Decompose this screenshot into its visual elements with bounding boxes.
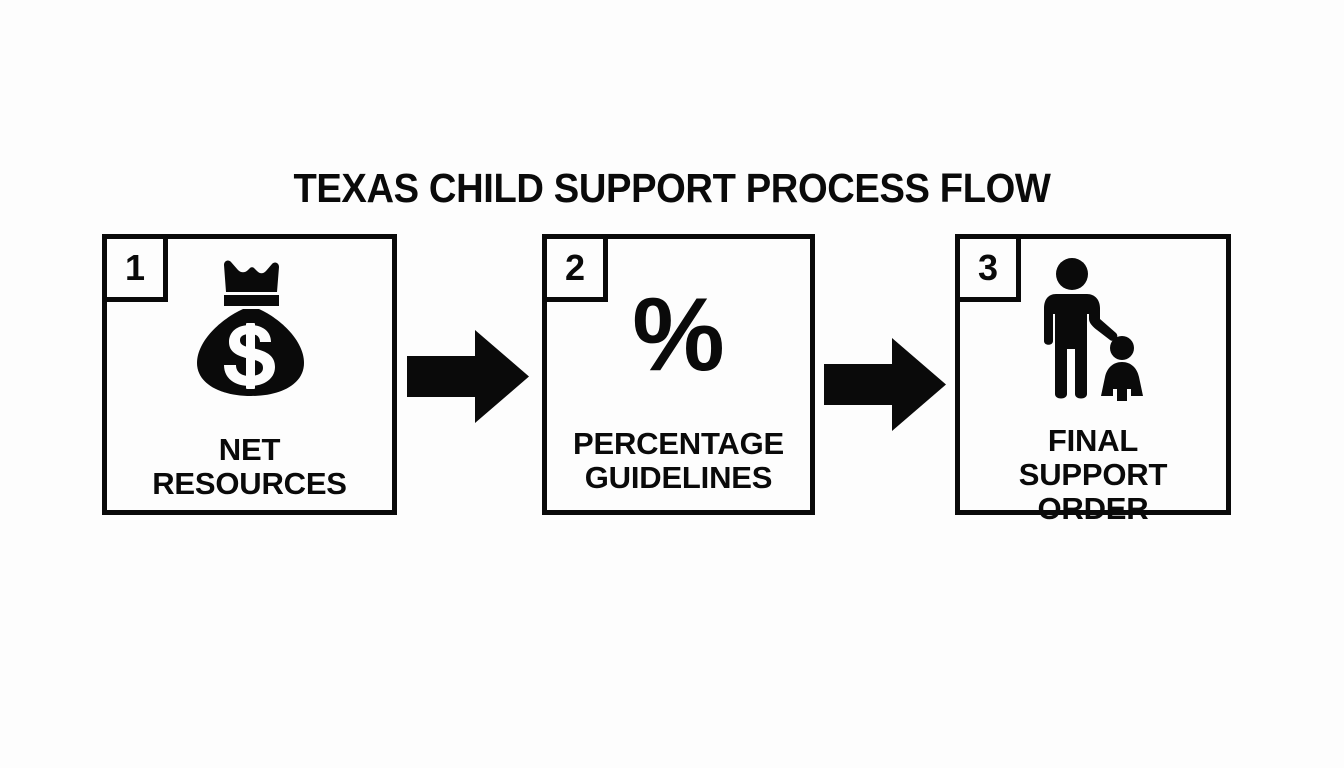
percent-icon: % [632, 281, 724, 389]
step-label: NET RESOURCES [152, 433, 347, 501]
step-label: PERCENTAGE GUIDELINES [573, 427, 784, 495]
parent-and-child-icon [1034, 257, 1152, 402]
page-title: TEXAS CHILD SUPPORT PROCESS FLOW [47, 164, 1297, 212]
arrow-right-icon [824, 338, 946, 431]
percent-glyph: % [632, 283, 724, 387]
step-number-badge: 2 [542, 234, 608, 302]
money-bag-icon [191, 257, 309, 397]
arrow-right-icon [407, 330, 529, 423]
step-card-percentage-guidelines[interactable]: 2 % PERCENTAGE GUIDELINES [542, 234, 815, 515]
step-number-badge: 3 [955, 234, 1021, 302]
step-label: FINAL SUPPORT ORDER [1019, 424, 1167, 526]
step-card-net-resources[interactable]: 1 NET RESOURCES [102, 234, 397, 515]
step-card-final-support-order[interactable]: 3 FINAL SUPPORT ORDER [955, 234, 1231, 515]
diagram-canvas: TEXAS CHILD SUPPORT PROCESS FLOW 1 [0, 0, 1344, 768]
step-number-badge: 1 [102, 234, 168, 302]
